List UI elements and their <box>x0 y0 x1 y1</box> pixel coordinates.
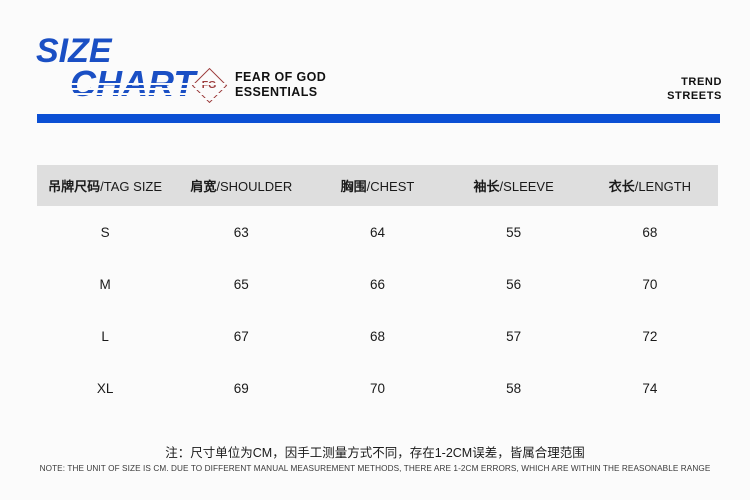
column-header-cn: 衣长 <box>609 179 635 194</box>
table-body: S 63 64 55 68 M 65 66 56 70 L 67 68 57 7… <box>37 206 718 414</box>
cell-size: XL <box>37 362 173 414</box>
table-header: 吊牌尺码/TAG SIZE 肩宽/SHOULDER 胸围/CHEST 袖长/SL… <box>37 165 718 206</box>
cell-length: 68 <box>582 206 718 258</box>
brand-name-line-2: ESSENTIALS <box>235 85 326 100</box>
column-header-cn: 肩宽 <box>190 179 216 194</box>
cell-length: 74 <box>582 362 718 414</box>
column-header-length: 衣长/LENGTH <box>582 165 718 206</box>
column-header-tag-size: 吊牌尺码/TAG SIZE <box>37 165 173 206</box>
table-header-row: 吊牌尺码/TAG SIZE 肩宽/SHOULDER 胸围/CHEST 袖长/SL… <box>37 165 718 206</box>
shop-name-line-2: STREETS <box>667 90 722 104</box>
cell-shoulder: 63 <box>173 206 309 258</box>
column-header-cn: 吊牌尺码 <box>48 179 100 194</box>
cell-chest: 64 <box>309 206 445 258</box>
brand-name-line-1: FEAR OF GOD <box>235 70 326 85</box>
shop-name-line-1: TREND <box>667 76 722 90</box>
size-table-container: 吊牌尺码/TAG SIZE 肩宽/SHOULDER 胸围/CHEST 袖长/SL… <box>37 165 718 414</box>
cell-shoulder: 65 <box>173 258 309 310</box>
cell-sleeve: 58 <box>446 362 582 414</box>
size-chart-logo: SIZE CHART <box>34 34 204 112</box>
cell-size: L <box>37 310 173 362</box>
column-header-cn: 袖长 <box>474 179 500 194</box>
column-header-shoulder: 肩宽/SHOULDER <box>173 165 309 206</box>
cell-sleeve: 55 <box>446 206 582 258</box>
note-english: NOTE: THE UNIT OF SIZE IS CM. DUE TO DIF… <box>0 464 750 473</box>
column-header-en: LENGTH <box>638 179 691 194</box>
cell-size: M <box>37 258 173 310</box>
logo-text-chart: CHART <box>70 66 195 102</box>
cell-chest: 68 <box>309 310 445 362</box>
accent-divider-bar <box>37 114 720 123</box>
table-row: S 63 64 55 68 <box>37 206 718 258</box>
table-row: XL 69 70 58 74 <box>37 362 718 414</box>
column-header-sleeve: 袖长/SLEEVE <box>446 165 582 206</box>
column-header-chest: 胸围/CHEST <box>309 165 445 206</box>
shop-name: TREND STREETS <box>667 76 722 104</box>
table-row: M 65 66 56 70 <box>37 258 718 310</box>
cell-length: 72 <box>582 310 718 362</box>
chart-header: SIZE CHART FG FEAR OF GOD ESSENTIALS TRE… <box>0 0 750 130</box>
column-header-en: CHEST <box>370 179 414 194</box>
brand-name: FEAR OF GOD ESSENTIALS <box>235 70 326 101</box>
cell-shoulder: 67 <box>173 310 309 362</box>
note-chinese: 注：尺寸单位为CM，因手工测量方式不同，存在1-2CM误差，皆属合理范围 <box>0 442 750 461</box>
column-header-en: SHOULDER <box>220 179 292 194</box>
cell-chest: 66 <box>309 258 445 310</box>
size-chart-table: 吊牌尺码/TAG SIZE 肩宽/SHOULDER 胸围/CHEST 袖长/SL… <box>37 165 718 414</box>
logo-text-chart-wrapper: CHART <box>70 66 195 106</box>
cell-chest: 70 <box>309 362 445 414</box>
table-row: L 67 68 57 72 <box>37 310 718 362</box>
cell-sleeve: 57 <box>446 310 582 362</box>
column-header-cn: 胸围 <box>341 179 367 194</box>
column-header-en: TAG SIZE <box>104 179 162 194</box>
column-header-en: SLEEVE <box>503 179 554 194</box>
cell-sleeve: 56 <box>446 258 582 310</box>
cell-shoulder: 69 <box>173 362 309 414</box>
fg-diamond-icon: FG <box>192 68 226 102</box>
cell-length: 70 <box>582 258 718 310</box>
cell-size: S <box>37 206 173 258</box>
brand-logo: FG FEAR OF GOD ESSENTIALS <box>192 68 326 102</box>
fg-monogram-label: FG <box>192 68 226 102</box>
